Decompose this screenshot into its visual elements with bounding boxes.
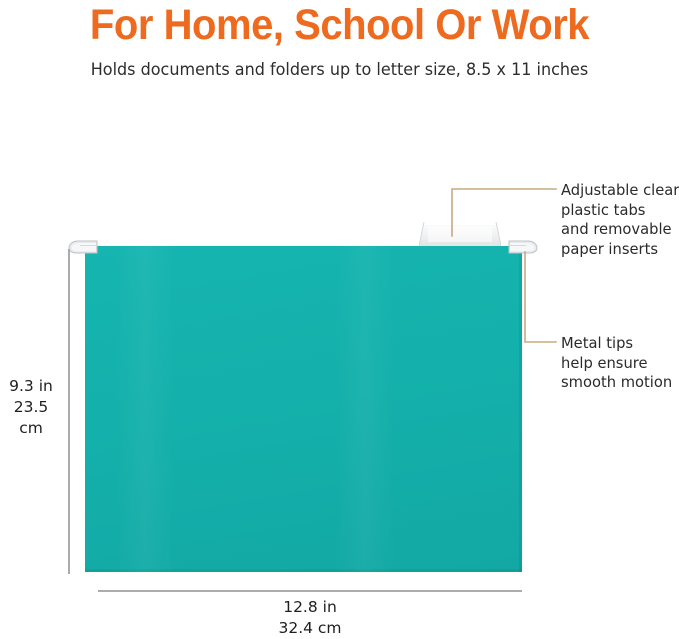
page-subheadline: Holds documents and folders up to letter… <box>10 59 669 81</box>
width-dimension-label: 12.8 in 32.4 cm <box>98 597 522 639</box>
height-dimension-label: 9.3 in 23.5 cm <box>0 376 62 439</box>
plastic-tab <box>419 220 501 247</box>
hanging-file-folder-body <box>85 246 522 572</box>
callout-metal-tips: Metal tips help ensure smooth motion <box>561 334 679 393</box>
folder-sheen-right <box>335 246 395 572</box>
width-dimension-line <box>98 590 522 592</box>
page-headline: For Home, School Or Work <box>24 0 655 50</box>
metal-tip-right-icon <box>508 239 538 257</box>
folder-sheen-left <box>115 246 175 572</box>
metal-tip-left-icon <box>68 239 98 257</box>
height-dimension-line <box>68 249 70 574</box>
callout-adjustable-tabs: Adjustable clear plastic tabs and remova… <box>561 181 679 259</box>
